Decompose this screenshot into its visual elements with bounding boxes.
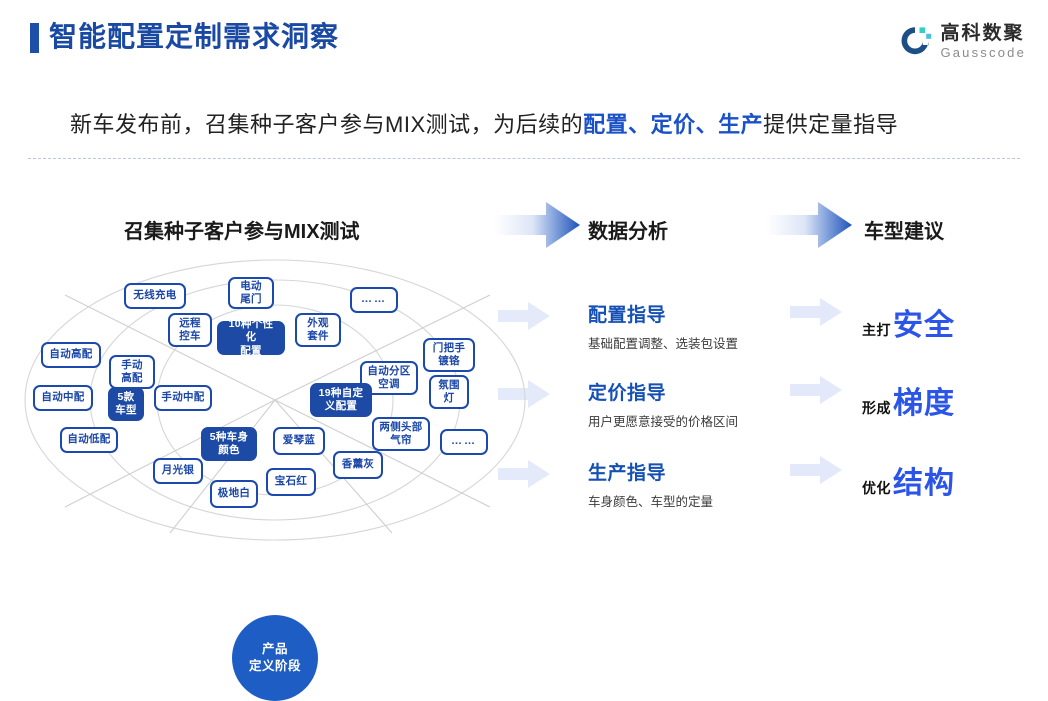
column-heading-analysis: 数据分析 <box>588 215 668 244</box>
analysis-row-3: 生产指导 车身颜色、车型的定量 <box>588 458 818 510</box>
mindmap-node-label: …… <box>361 293 387 307</box>
row-arrow-icon-b1 <box>790 298 842 326</box>
analysis-row-1-desc: 基础配置调整、选装包设置 <box>588 333 818 352</box>
mindmap-node: 外观套件 <box>295 313 341 347</box>
subtitle-highlight: 配置、定价、生产 <box>583 112 763 137</box>
mindmap-node-label: 门把手 <box>433 342 465 355</box>
analysis-row-3-desc: 车身颜色、车型的定量 <box>588 491 818 510</box>
mindmap-node-label: 香薰灰 <box>342 458 374 471</box>
suggestion-row-1-prefix: 主打 <box>862 320 891 340</box>
mindmap-node: 自动高配 <box>41 342 101 368</box>
mindmap-node: 氛围灯 <box>429 375 469 409</box>
mindmap-node: …… <box>440 429 488 455</box>
mindmap-node: 宝石红 <box>266 468 316 496</box>
column-heading-suggestion: 车型建议 <box>864 215 944 244</box>
suggestion-row-1-keyword: 安全 <box>893 300 955 344</box>
logo-glyph-icon <box>898 24 932 58</box>
column-heading-collect: 召集种子客户参与MIX测试 <box>124 215 360 244</box>
mindmap-node-label: 配置 <box>240 345 262 358</box>
mindmap-node-label: 手动中配 <box>161 391 204 404</box>
mindmap-node-label: 自动低配 <box>67 433 110 446</box>
suggestion-row-2: 形成 梯度 <box>862 378 955 422</box>
subtitle: 新车发布前，召集种子客户参与MIX测试，为后续的配置、定价、生产提供定量指导 <box>70 107 898 139</box>
mindmap-node: 手动中配 <box>154 385 212 411</box>
mindmap-node-label: 10种个性化 <box>224 318 278 344</box>
mindmap-node-label: 极地白 <box>218 487 250 500</box>
mindmap-node: 月光银 <box>153 458 203 484</box>
flow-arrow-icon-2 <box>766 202 852 248</box>
mindmap-node-label: 手动 <box>121 359 143 372</box>
mindmap-node-label: 颜色 <box>218 444 240 457</box>
slide-header: 智能配置定制需求洞察 高科数聚 Gausscode <box>0 0 1048 78</box>
row-arrow-icon-b2 <box>790 376 842 404</box>
mindmap-node-label: 电动 <box>240 280 262 293</box>
mindmap-center-node: 产品 定义阶段 <box>232 615 318 701</box>
section-divider <box>28 158 1020 159</box>
page-title: 智能配置定制需求洞察 <box>49 20 339 54</box>
mindmap-node-label: 月光银 <box>162 464 194 477</box>
mindmap-node: 5款车型 <box>108 387 144 421</box>
suggestion-row-2-keyword: 梯度 <box>893 378 955 422</box>
mindmap-node-label: …… <box>451 435 477 449</box>
subtitle-part1: 新车发布前，召集种子客户参与MIX测试，为后续的 <box>70 112 583 137</box>
subtitle-part2: 提供定量指导 <box>763 112 898 137</box>
mindmap-node: 门把手镀铬 <box>423 338 475 372</box>
mindmap-node-label: 宝石红 <box>275 475 307 488</box>
mindmap-node-label: 自动高配 <box>49 348 92 361</box>
mindmap-node: 10种个性化配置 <box>217 321 285 355</box>
suggestion-row-2-prefix: 形成 <box>862 398 891 418</box>
mindmap-node: …… <box>350 287 398 313</box>
mindmap-node-label: 远程 <box>179 317 201 330</box>
mindmap-center-line1: 产品 <box>262 641 288 658</box>
mindmap-node: 19种自定义配置 <box>310 383 372 417</box>
mindmap-node-label: 自动中配 <box>41 391 84 404</box>
mindmap-node-label: 气帘 <box>390 434 412 447</box>
mindmap-node: 爱琴蓝 <box>273 427 325 455</box>
suggestion-row-3: 优化 结构 <box>862 458 955 502</box>
mindmap-node-label: 尾门 <box>240 293 262 306</box>
mindmap-node: 自动中配 <box>33 385 93 411</box>
mindmap-node-label: 车型 <box>115 404 137 417</box>
title-accent-bar <box>30 23 39 53</box>
mindmap-node: 手动高配 <box>109 355 155 389</box>
mindmap-node: 5种车身颜色 <box>201 427 257 461</box>
mindmap-node: 极地白 <box>210 480 258 508</box>
mindmap-node-label: 空调 <box>378 378 400 391</box>
logo-text-en: Gausscode <box>940 46 1026 59</box>
mindmap-node-label: 套件 <box>307 330 329 343</box>
mindmap-node-label: 高配 <box>121 372 143 385</box>
mindmap: 产品 定义阶段 无线充电电动尾门……远程控车10种个性化配置外观套件门把手镀铬自… <box>20 255 530 545</box>
analysis-row-1-title: 配置指导 <box>588 300 818 327</box>
mindmap-node: 香薰灰 <box>333 451 383 479</box>
mindmap-node: 两侧头部气帘 <box>372 417 430 451</box>
mindmap-node-label: 外观 <box>307 317 329 330</box>
mindmap-node-label: 灯 <box>444 392 455 405</box>
mindmap-node-label: 5款 <box>118 391 135 404</box>
mindmap-node-label: 自动分区 <box>367 365 410 378</box>
analysis-row-1: 配置指导 基础配置调整、选装包设置 <box>588 300 818 352</box>
mindmap-node: 自动低配 <box>60 427 118 453</box>
mindmap-node-label: 5种车身 <box>210 431 249 444</box>
brand-logo: 高科数聚 Gausscode <box>898 20 1026 62</box>
slide: 智能配置定制需求洞察 高科数聚 Gausscode 新车发布前，召集种子客户参与… <box>0 0 1048 589</box>
analysis-row-2-desc: 用户更愿意接受的价格区间 <box>588 411 818 430</box>
mindmap-node-label: 两侧头部 <box>379 421 422 434</box>
flow-arrow-icon-1 <box>494 202 580 248</box>
suggestion-row-3-keyword: 结构 <box>893 458 955 502</box>
mindmap-node-label: 无线充电 <box>133 289 176 302</box>
mindmap-node-label: 镀铬 <box>438 355 460 368</box>
mindmap-node-label: 19种自定 <box>319 387 364 400</box>
mindmap-node: 远程控车 <box>168 313 212 347</box>
mindmap-node-label: 控车 <box>179 330 201 343</box>
analysis-row-2-title: 定价指导 <box>588 378 818 405</box>
row-arrow-icon-b3 <box>790 456 842 484</box>
mindmap-node: 无线充电 <box>124 283 186 309</box>
mindmap-node-label: 氛围 <box>438 379 460 392</box>
mindmap-node-label: 义配置 <box>325 400 357 413</box>
analysis-row-2: 定价指导 用户更愿意接受的价格区间 <box>588 378 818 430</box>
mindmap-node: 电动尾门 <box>228 277 274 309</box>
suggestion-row-1: 主打 安全 <box>862 300 955 344</box>
analysis-row-3-title: 生产指导 <box>588 458 818 485</box>
mindmap-node-label: 爱琴蓝 <box>283 434 315 447</box>
logo-text-cn: 高科数聚 <box>940 24 1026 43</box>
suggestion-row-3-prefix: 优化 <box>862 478 891 498</box>
mindmap-center-line2: 定义阶段 <box>249 658 301 675</box>
